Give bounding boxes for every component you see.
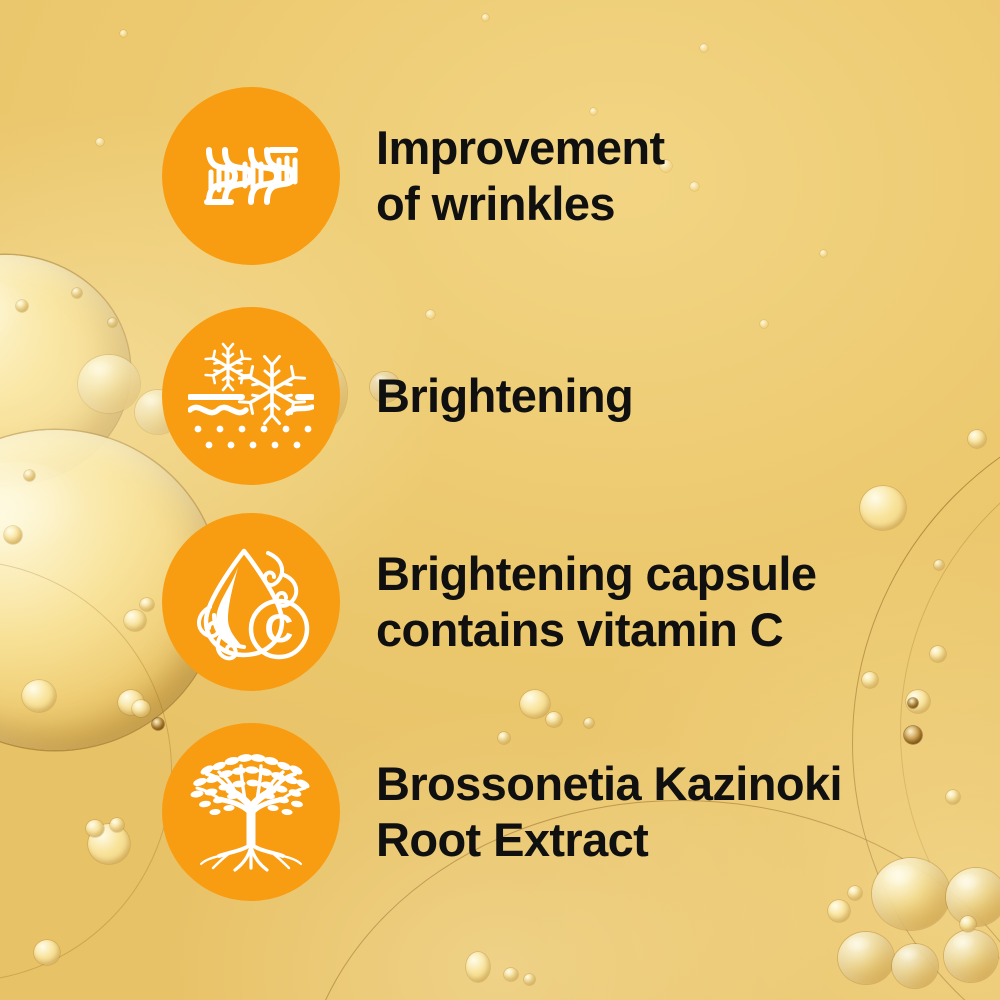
- droplet-vitamin-c-icon-badge: C: [162, 513, 340, 691]
- feature-label: Brossonetia Kazinoki Root Extract: [376, 756, 842, 868]
- feature-list: Improvement of wrinkles: [0, 0, 1000, 1000]
- dna-helix-icon-badge: [162, 87, 340, 265]
- feature-row[interactable]: Brightening: [162, 307, 633, 485]
- droplet-vitamin-c-icon: C: [186, 537, 316, 667]
- feature-label: Brightening: [376, 368, 633, 424]
- feature-row[interactable]: Improvement of wrinkles: [162, 87, 665, 265]
- snowflake-skin-layer-icon: [188, 337, 314, 455]
- feature-row[interactable]: Brossonetia Kazinoki Root Extract: [162, 723, 842, 901]
- tree-with-roots-icon: [185, 748, 317, 876]
- tree-with-roots-icon-badge: [162, 723, 340, 901]
- feature-label: Improvement of wrinkles: [376, 120, 665, 232]
- feature-row[interactable]: C Brightening capsule contains vitamin C: [162, 513, 816, 691]
- dna-helix-icon: [191, 116, 311, 236]
- snowflake-skin-layer-icon-badge: [162, 307, 340, 485]
- product-benefits-poster: Improvement of wrinkles: [0, 0, 1000, 1000]
- vitamin-c-letter: C: [265, 607, 294, 651]
- feature-label: Brightening capsule contains vitamin C: [376, 546, 816, 658]
